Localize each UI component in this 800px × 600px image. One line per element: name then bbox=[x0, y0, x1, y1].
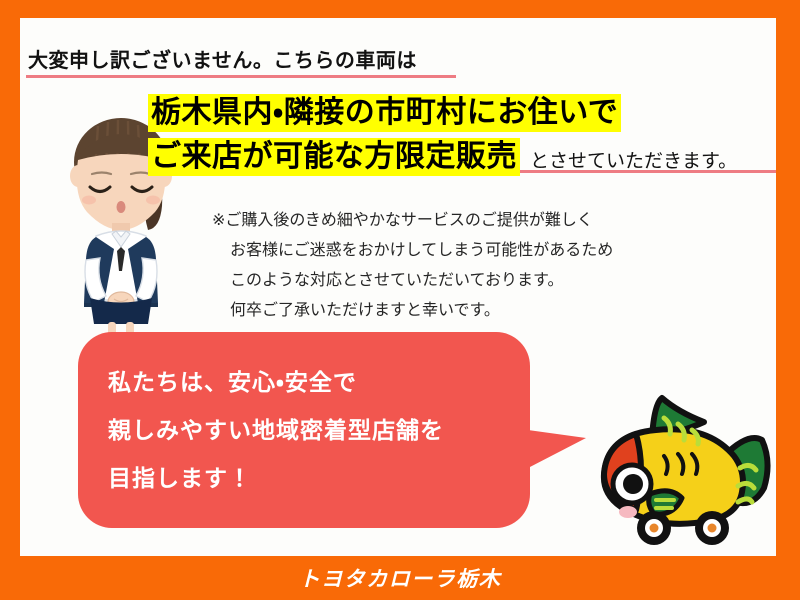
note-line-3: このような対応とさせていただいております。 bbox=[212, 266, 613, 296]
poster-root: 大変申し訳ございません。こちらの車両は bbox=[0, 0, 800, 600]
mission-line-3: 目指します！ bbox=[108, 454, 444, 502]
mission-speech-bubble: 私たちは、安心・安全で 親しみやすい地域密着型店舗を 目指します！ bbox=[78, 332, 530, 528]
headline-block: 栃木県内・隣接の市町村にお住いで ご来店が可能な方限定販売 とさせていただきます… bbox=[148, 92, 778, 180]
apology-heading: 大変申し訳ございません。こちらの車両は bbox=[28, 44, 417, 73]
brand-banner: トヨタカローラ栃木 bbox=[0, 556, 800, 600]
note-line-2: お客様にご迷惑をおかけしてしまう可能性があるため bbox=[212, 236, 613, 266]
mission-line-2: 親しみやすい地域密着型店舗を bbox=[108, 406, 444, 454]
headline-highlight-line1: 栃木県内・隣接の市町村にお住いで bbox=[148, 94, 621, 132]
headline-row-1: 栃木県内・隣接の市町村にお住いで bbox=[148, 92, 778, 132]
headline-tail-text: とさせていただきます。 bbox=[520, 146, 737, 176]
note-line-1: ※ご購入後のきめ細やかなサービスのご提供が難しく bbox=[212, 206, 613, 236]
speech-bubble-tail bbox=[528, 430, 586, 468]
divider-top bbox=[26, 75, 456, 78]
headline-row-2: ご来店が可能な方限定販売 とさせていただきます。 bbox=[148, 136, 778, 176]
note-line-4: 何卒ご了承いただけますと幸いです。 bbox=[212, 296, 613, 326]
content-sheet: 大変申し訳ございません。こちらの車両は bbox=[20, 18, 776, 556]
headline-highlight-line2: ご来店が可能な方限定販売 bbox=[148, 138, 520, 176]
notes-block: ※ご購入後のきめ細やかなサービスのご提供が難しく お客様にご迷惑をおかけしてしま… bbox=[212, 206, 613, 326]
fish-car-mascot-icon bbox=[592, 390, 784, 550]
mission-text: 私たちは、安心・安全で 親しみやすい地域密着型店舗を 目指します！ bbox=[108, 358, 444, 502]
brand-name: トヨタカローラ栃木 bbox=[299, 563, 502, 593]
mission-line-1: 私たちは、安心・安全で bbox=[108, 358, 444, 406]
